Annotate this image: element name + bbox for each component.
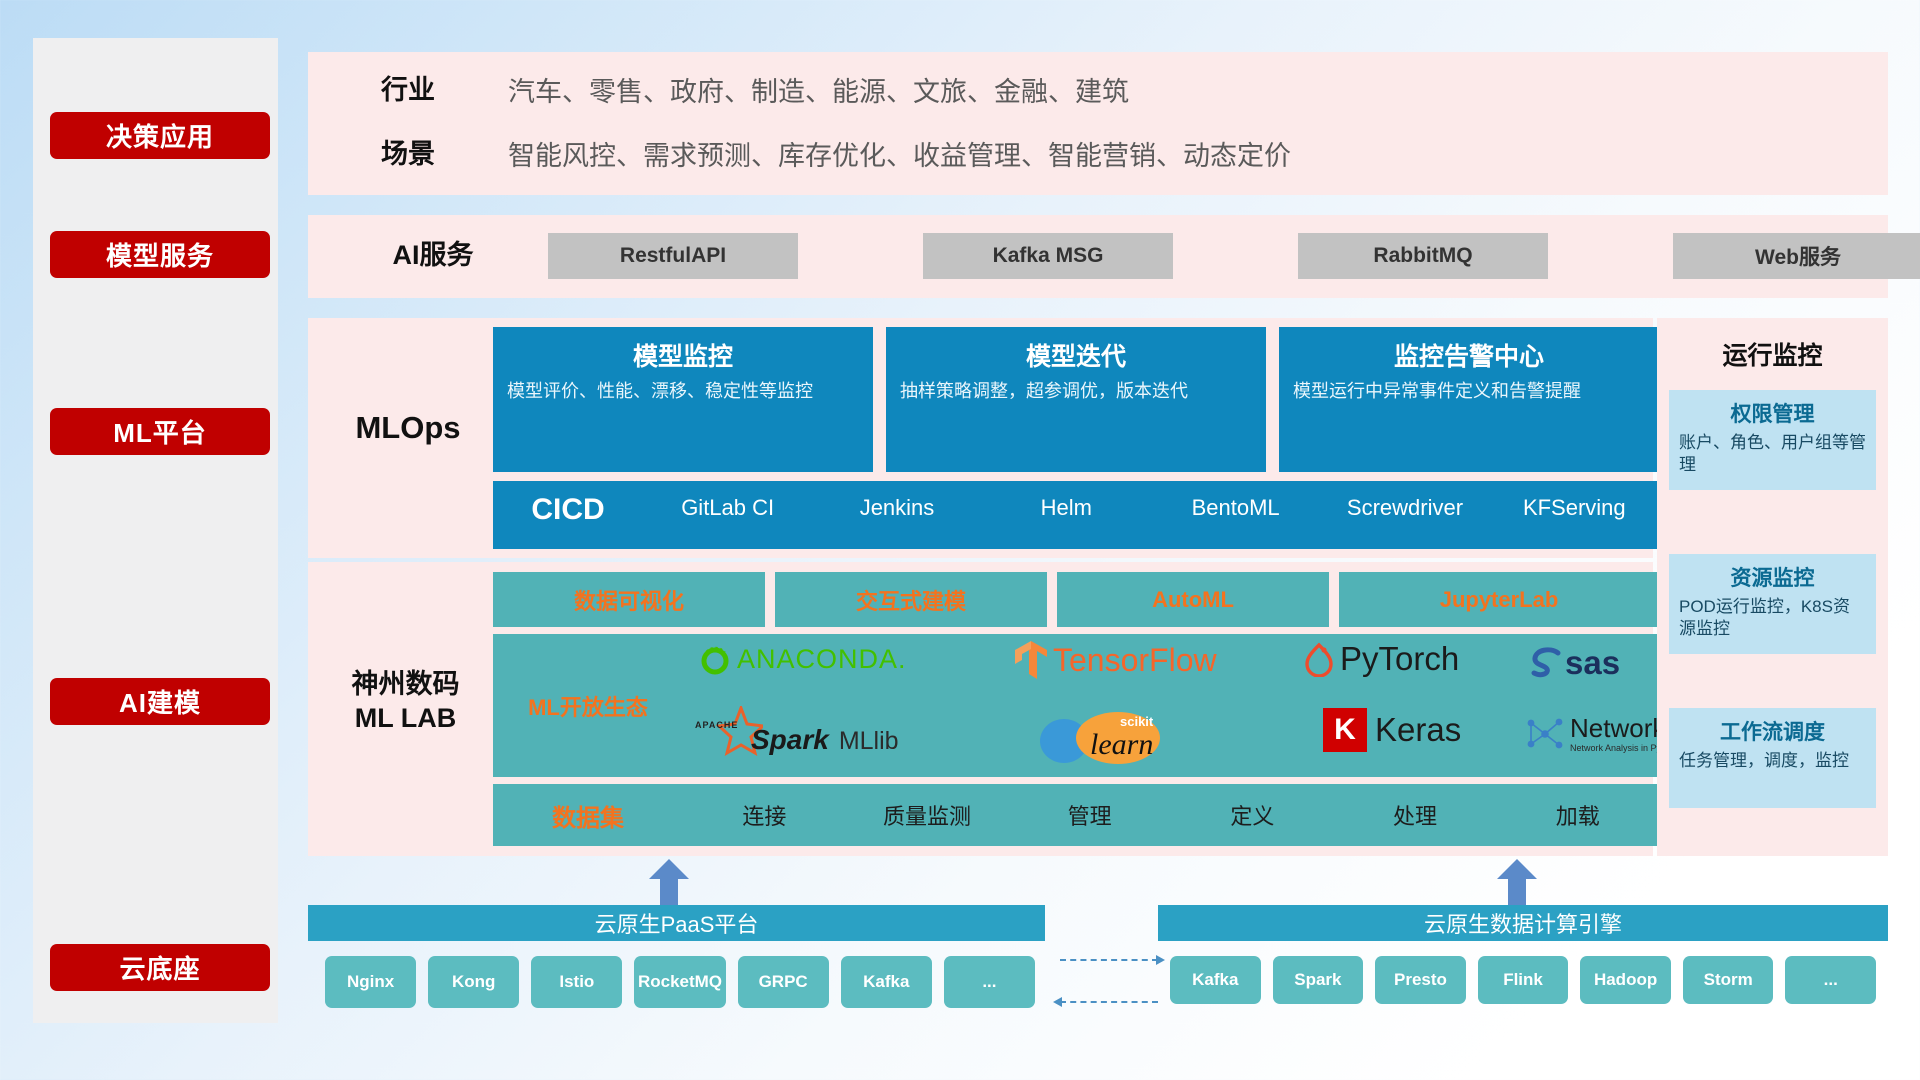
cicd-item-kfserving[interactable]: KFServing: [1490, 481, 1659, 520]
decision-row-label-scene: 场景: [348, 130, 468, 180]
mllab-eco-label: ML开放生态: [493, 690, 683, 722]
engine-chip-presto[interactable]: Presto: [1375, 956, 1466, 1004]
cicd-item-gitlab-ci[interactable]: GitLab CI: [643, 481, 812, 520]
spark-apache-label: APACHE: [695, 720, 738, 730]
dataset-item-connect[interactable]: 连接: [683, 799, 846, 831]
scikit-learn-logo: scikit learn: [1038, 708, 1178, 766]
cicd-item-helm[interactable]: Helm: [982, 481, 1151, 520]
tensorflow-label: TensorFlow: [1053, 642, 1217, 679]
sas-swirl-icon: [1528, 647, 1564, 679]
dashed-arrow-right: [1156, 955, 1165, 965]
cicd-item-jenkins[interactable]: Jenkins: [812, 481, 981, 520]
tensorflow-logo: TensorFlow: [1013, 640, 1217, 680]
mllab-panel: 神州数码 ML LAB 数据可视化 交互式建模 AutoML JupyterLa…: [308, 562, 1653, 856]
decision-row-value-industry: 汽车、零售、政府、制造、能源、文旅、金融、建筑: [508, 70, 1129, 109]
cicd-row: CICD GitLab CI Jenkins Helm BentoML Scre…: [493, 481, 1659, 549]
sas-label: sas: [1565, 644, 1620, 682]
dashed-link-left: [1060, 1001, 1158, 1003]
keras-k-icon: K: [1323, 708, 1367, 752]
mllab-dataset-row: 数据集 连接 质量监测 管理 定义 处理 加载: [493, 784, 1659, 846]
decision-row-value-scene: 智能风控、需求预测、库存优化、收益管理、智能营销、动态定价: [508, 134, 1291, 173]
mllab-tab-interactive-modeling[interactable]: 交互式建模: [775, 572, 1047, 627]
monitor-panel: 运行监控 权限管理 账户、角色、用户组等管理 资源监控 POD运行监控，K8S资…: [1657, 318, 1888, 856]
keras-logo: K Keras: [1323, 708, 1461, 752]
cicd-label: CICD: [493, 481, 643, 527]
mlops-card-title: 模型迭代: [886, 327, 1266, 379]
mllab-tab-data-visualization[interactable]: 数据可视化: [493, 572, 765, 627]
keras-label: Keras: [1375, 711, 1461, 749]
dataset-label: 数据集: [493, 798, 683, 833]
monitor-card-resource[interactable]: 资源监控 POD运行监控，K8S资源监控: [1669, 554, 1876, 654]
monitor-card-desc: 任务管理，调度，监控: [1669, 750, 1876, 780]
layer-pill-mlplat[interactable]: ML平台: [50, 408, 270, 455]
mlops-card-desc: 模型评价、性能、漂移、稳定性等监控: [493, 379, 873, 413]
pytorch-logo: PyTorch: [1303, 640, 1459, 678]
mlops-label: MLOps: [318, 398, 498, 458]
monitor-card-title: 工作流调度: [1669, 708, 1876, 750]
paas-chip-istio[interactable]: Istio: [531, 956, 622, 1008]
paas-chip-rocketmq[interactable]: RocketMQ: [634, 956, 725, 1008]
paas-chip-nginx[interactable]: Nginx: [325, 956, 416, 1008]
pytorch-label: PyTorch: [1340, 640, 1459, 678]
paas-chip-grpc[interactable]: GRPC: [738, 956, 829, 1008]
anaconda-logo: ANACONDA.: [698, 642, 907, 676]
monitor-card-title: 资源监控: [1669, 554, 1876, 596]
mllib-label: MLlib: [839, 727, 899, 756]
data-engine-title-bar: 云原生数据计算引擎: [1158, 905, 1888, 941]
architecture-diagram: 决策应用 模型服务 ML平台 AI建模 云底座 行业 汽车、零售、政府、制造、能…: [0, 0, 1920, 1080]
mllab-eco-row: ML开放生态 ANACONDA. APACHE Spark: [493, 634, 1659, 777]
paas-chip-more[interactable]: ...: [944, 956, 1035, 1008]
spark-mllib-logo: APACHE Spark MLlib: [693, 706, 899, 764]
learn-label: learn: [1090, 728, 1153, 762]
dataset-item-load[interactable]: 加载: [1496, 799, 1659, 831]
monitor-title: 运行监控: [1657, 336, 1888, 372]
mllab-tab-automl[interactable]: AutoML: [1057, 572, 1329, 627]
mlops-panel: MLOps 模型监控 模型评价、性能、漂移、稳定性等监控 模型迭代 抽样策略调整…: [308, 318, 1653, 558]
data-engine-chip-row: Kafka Spark Presto Flink Hadoop Storm ..…: [1170, 956, 1876, 1004]
ai-service-panel: AI服务 RestfulAPI Kafka MSG RabbitMQ Web服务: [308, 215, 1888, 298]
decision-panel: 行业 汽车、零售、政府、制造、能源、文旅、金融、建筑 场景 智能风控、需求预测、…: [308, 52, 1888, 195]
anaconda-icon: [698, 642, 732, 676]
mlops-card-model-monitor[interactable]: 模型监控 模型评价、性能、漂移、稳定性等监控: [493, 327, 873, 472]
engine-chip-hadoop[interactable]: Hadoop: [1580, 956, 1671, 1004]
pytorch-flame-icon: [1303, 641, 1335, 677]
dashed-arrow-left: [1053, 997, 1062, 1007]
mlops-card-alert-center[interactable]: 监控告警中心 模型运行中异常事件定义和告警提醒: [1279, 327, 1659, 472]
ai-service-item-web-service[interactable]: Web服务: [1673, 233, 1920, 279]
mlops-card-model-iteration[interactable]: 模型迭代 抽样策略调整，超参调优，版本迭代: [886, 327, 1266, 472]
dataset-item-manage[interactable]: 管理: [1008, 799, 1171, 831]
tensorflow-icon: [1013, 640, 1049, 680]
engine-chip-storm[interactable]: Storm: [1683, 956, 1774, 1004]
mlops-card-desc: 模型运行中异常事件定义和告警提醒: [1279, 379, 1659, 413]
paas-chip-row: Nginx Kong Istio RocketMQ GRPC Kafka ...: [325, 956, 1035, 1008]
ai-service-item-rabbitmq[interactable]: RabbitMQ: [1298, 233, 1548, 279]
mllab-tab-jupyterlab[interactable]: JupyterLab: [1339, 572, 1659, 627]
paas-chip-kong[interactable]: Kong: [428, 956, 519, 1008]
mlops-card-desc: 抽样策略调整，超参调优，版本迭代: [886, 379, 1266, 413]
ai-service-label: AI服务: [338, 233, 528, 279]
sas-logo: sas: [1528, 644, 1620, 682]
layer-rail: [33, 38, 278, 1023]
monitor-card-desc: POD运行监控，K8S资源监控: [1669, 596, 1876, 649]
dataset-item-quality[interactable]: 质量监测: [846, 799, 1009, 831]
spark-label: Spark: [751, 724, 829, 756]
monitor-card-permission[interactable]: 权限管理 账户、角色、用户组等管理: [1669, 390, 1876, 490]
mlops-card-title: 模型监控: [493, 327, 873, 379]
monitor-card-title: 权限管理: [1669, 390, 1876, 432]
networkx-graph-icon: [1523, 714, 1565, 754]
layer-pill-modelsvc[interactable]: 模型服务: [50, 231, 270, 278]
dashed-link-right: [1060, 959, 1158, 961]
layer-pill-aimodel[interactable]: AI建模: [50, 678, 270, 725]
ai-service-item-kafka-msg[interactable]: Kafka MSG: [923, 233, 1173, 279]
dataset-item-define[interactable]: 定义: [1171, 799, 1334, 831]
cicd-item-screwdriver[interactable]: Screwdriver: [1320, 481, 1489, 520]
anaconda-label: ANACONDA.: [737, 644, 907, 675]
engine-chip-spark[interactable]: Spark: [1273, 956, 1364, 1004]
monitor-card-workflow[interactable]: 工作流调度 任务管理，调度，监控: [1669, 708, 1876, 808]
ai-service-item-restfulapi[interactable]: RestfulAPI: [548, 233, 798, 279]
paas-title-bar: 云原生PaaS平台: [308, 905, 1045, 941]
layer-pill-decision[interactable]: 决策应用: [50, 112, 270, 159]
cicd-item-bentoml[interactable]: BentoML: [1151, 481, 1320, 520]
engine-chip-flink[interactable]: Flink: [1478, 956, 1569, 1004]
decision-row-label-industry: 行业: [348, 66, 468, 116]
dataset-item-process[interactable]: 处理: [1334, 799, 1497, 831]
paas-chip-kafka[interactable]: Kafka: [841, 956, 932, 1008]
engine-chip-kafka[interactable]: Kafka: [1170, 956, 1261, 1004]
scikit-label: scikit: [1120, 714, 1153, 729]
monitor-card-desc: 账户、角色、用户组等管理: [1669, 432, 1876, 485]
engine-chip-more[interactable]: ...: [1785, 956, 1876, 1004]
up-arrow-data-engine: [1497, 859, 1537, 905]
mllab-label: 神州数码 ML LAB: [313, 662, 498, 742]
layer-pill-cloudbase[interactable]: 云底座: [50, 944, 270, 991]
mlops-card-title: 监控告警中心: [1279, 327, 1659, 379]
up-arrow-paas: [649, 859, 689, 905]
